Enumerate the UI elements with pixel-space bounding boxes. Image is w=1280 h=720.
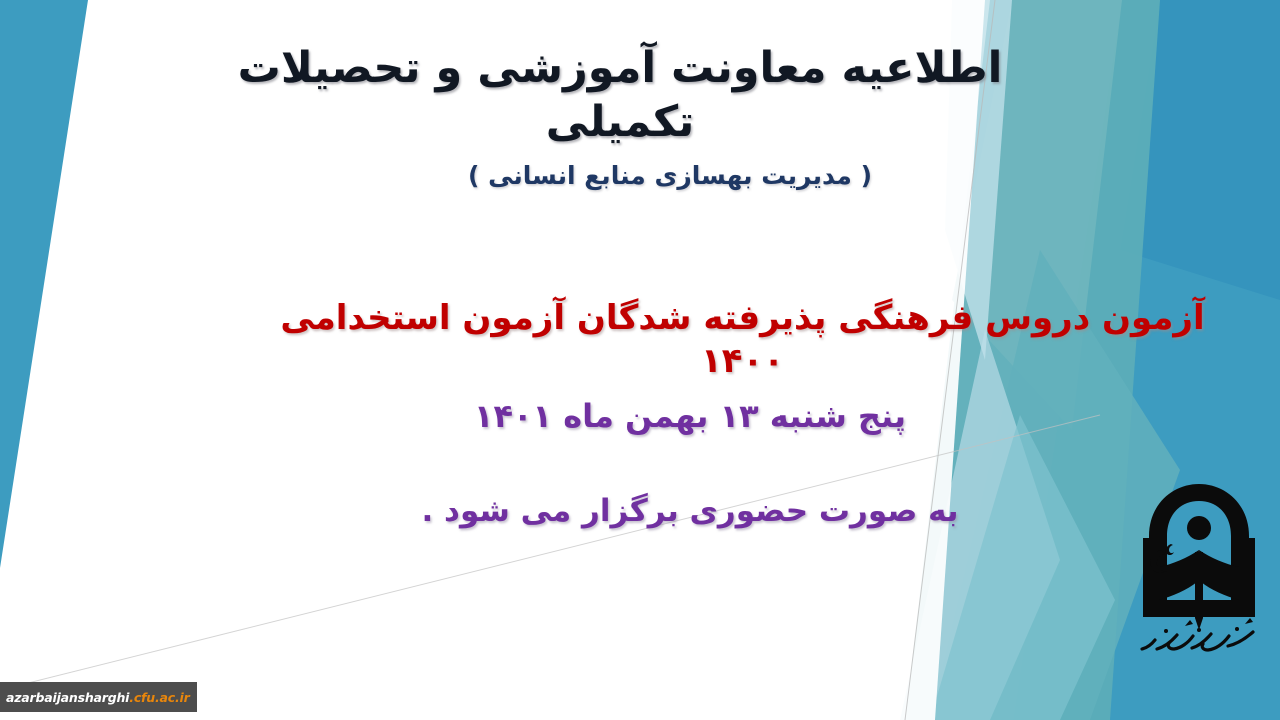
announcement-headline: آزمون دروس فرهنگی پذیرفته شدگان آزمون اس… (250, 297, 1235, 382)
watermark-domain: .cfu.ac.ir (129, 690, 189, 705)
slide-subtitle: ( مدیریت بهسازی منابع انسانی ) (390, 160, 950, 191)
watermark-text: azarbaijansharghi.cfu.ac.ir (6, 690, 190, 705)
farhangian-university-logo-icon (1133, 478, 1265, 656)
page-title: اطلاعیه معاونت آموزشی و تحصیلات تکمیلی (205, 42, 1035, 150)
exam-mode-text: به صورت حضوری برگزار می شود . (400, 492, 980, 531)
announcement-slide: اطلاعیه معاونت آموزشی و تحصیلات تکمیلی (… (0, 0, 1280, 720)
exam-date-text: پنج شنبه ۱۳ بهمن ماه ۱۴۰۱ (400, 396, 980, 436)
slide-text-layer: اطلاعیه معاونت آموزشی و تحصیلات تکمیلی (… (0, 0, 1280, 720)
watermark-prefix: azarbaijansharghi (6, 690, 129, 705)
site-watermark: azarbaijansharghi.cfu.ac.ir (0, 682, 197, 712)
